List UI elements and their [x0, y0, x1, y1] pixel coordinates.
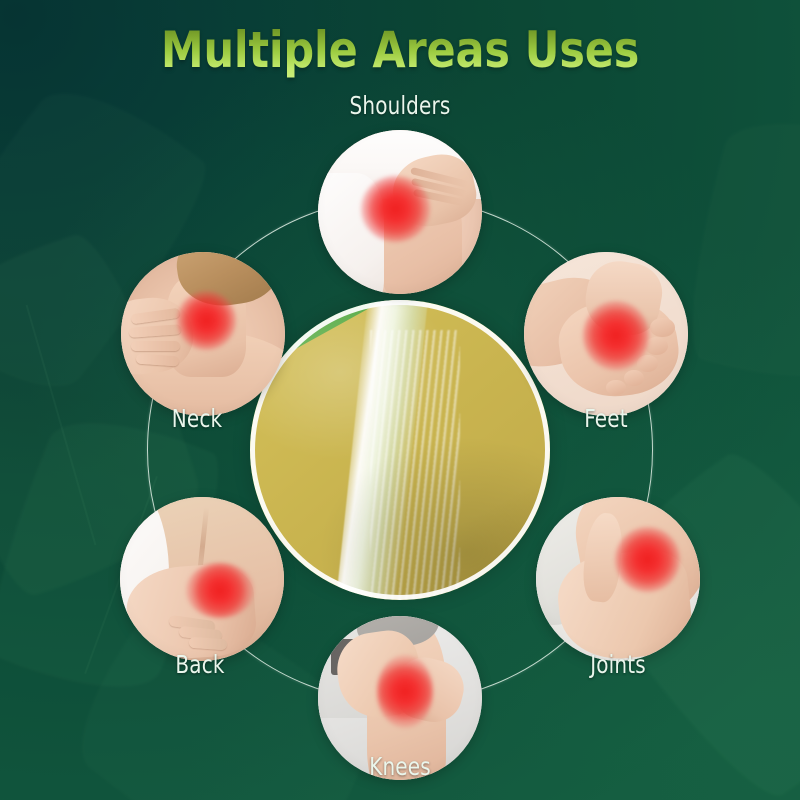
photo-shade	[524, 252, 688, 416]
page-title: Multiple Areas Uses	[56, 21, 744, 79]
area-photo-joints[interactable]	[536, 497, 700, 661]
center-product-patch	[250, 300, 550, 600]
area-label-back: Back	[120, 650, 280, 679]
area-photo-neck[interactable]	[121, 252, 285, 416]
area-photo-feet[interactable]	[524, 252, 688, 416]
area-photo-shoulders[interactable]	[318, 130, 482, 294]
area-label-neck: Neck	[117, 404, 277, 433]
photo-shade	[318, 130, 482, 294]
area-label-feet: Feet	[526, 404, 686, 433]
area-label-joints: Joints	[538, 650, 698, 679]
photo-shade	[120, 497, 284, 661]
patch-rim	[250, 300, 550, 600]
area-label-shoulders: Shoulders	[320, 91, 480, 120]
photo-shade	[536, 497, 700, 661]
photo-shade	[121, 252, 285, 416]
area-photo-back[interactable]	[120, 497, 284, 661]
area-label-knees: Knees	[320, 752, 480, 781]
promo-graphic: Multiple Areas Uses Shoulder	[0, 0, 800, 800]
